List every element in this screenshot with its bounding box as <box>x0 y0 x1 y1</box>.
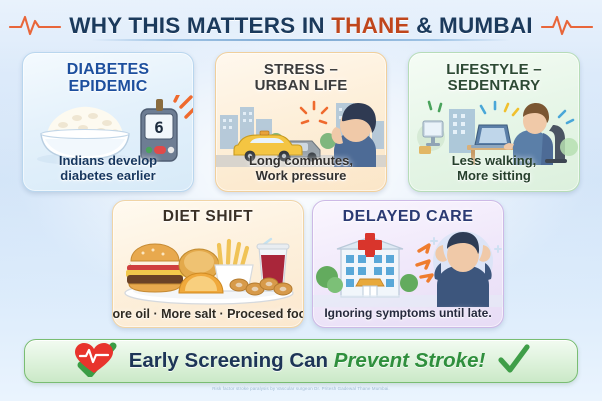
card-title: DIABETES EPIDEMIC <box>67 62 150 96</box>
card-caption-line2: diabetes earlier <box>59 169 157 184</box>
card-caption: More oil · More salt · Procesed food <box>112 307 304 321</box>
card-stress-urban-life[interactable]: STRESS – URBAN LIFE <box>215 52 387 192</box>
infographic-poster: WHY THIS MATTERS IN THANE & MUMBAI DIABE… <box>0 0 602 401</box>
card-title-line1: DELAYED CARE <box>343 209 474 226</box>
title-suffix: & MUMBAI <box>410 13 533 38</box>
title-prefix: WHY THIS MATTERS IN <box>69 13 331 38</box>
card-delayed-care[interactable]: DELAYED CARE <box>312 200 504 328</box>
card-caption-line1: Less walking, <box>452 154 537 169</box>
footer-credit: Risk factor stroke paralysis by Vascular… <box>0 386 602 391</box>
card-title-line1: LIFESTYLE – <box>446 62 542 78</box>
title-highlight: THANE <box>331 13 410 38</box>
card-title-line1: STRESS – <box>255 62 348 78</box>
heart-with-check-icon <box>71 341 117 382</box>
card-caption: Ignoring symptoms until late. <box>324 307 491 321</box>
card-title: DELAYED CARE <box>343 209 474 226</box>
card-caption-line2: More sitting <box>452 169 537 184</box>
ekg-pulse-icon <box>541 11 593 42</box>
svg-text:6: 6 <box>154 118 164 137</box>
illustration-hospital-and-person-with-headache <box>313 227 504 307</box>
page-title: WHY THIS MATTERS IN THANE & MUMBAI <box>69 13 532 39</box>
card-diet-shift[interactable]: DIET SHIFT <box>112 200 304 328</box>
card-title: LIFESTYLE – SEDENTARY <box>446 62 542 94</box>
card-caption: Less walking, More sitting <box>452 154 537 184</box>
card-caption: Long commutes, Work pressure <box>249 154 353 184</box>
card-caption-line1: More oil · More salt · Procesed food <box>112 307 304 321</box>
card-title: DIET SHIFT <box>163 209 253 225</box>
card-caption-line1: Long commutes, <box>249 154 353 169</box>
banner-text-highlight: Prevent Stroke! <box>334 349 486 372</box>
ekg-pulse-icon <box>9 11 61 42</box>
card-title-line2: SEDENTARY <box>446 78 542 94</box>
illustration-burger-fries-soda-platter <box>113 227 304 307</box>
card-title: STRESS – URBAN LIFE <box>255 62 348 94</box>
card-title-line2: URBAN LIFE <box>255 78 348 94</box>
banner-text-lead: Early Screening Can <box>129 349 334 372</box>
card-caption-line2: Work pressure <box>249 169 353 184</box>
card-lifestyle-sedentary[interactable]: LIFESTYLE – SEDENTARY <box>408 52 580 192</box>
card-caption: Indians develop diabetes earlier <box>59 154 157 184</box>
call-to-action-banner[interactable]: Early Screening Can Prevent Stroke! <box>24 339 578 383</box>
banner-text: Early Screening Can Prevent Stroke! <box>129 349 486 373</box>
card-title-line1: DIET SHIFT <box>163 209 253 225</box>
check-icon <box>497 344 531 379</box>
title-underline-rule <box>92 39 510 41</box>
card-caption-line1: Indians develop <box>59 154 157 169</box>
card-caption-line1: Ignoring symptoms until late. <box>324 307 491 321</box>
card-title-line1: DIABETES <box>67 62 150 79</box>
card-diabetes-epidemic[interactable]: DIABETES EPIDEMIC 6 <box>22 52 194 192</box>
card-title-line2: EPIDEMIC <box>67 79 150 96</box>
